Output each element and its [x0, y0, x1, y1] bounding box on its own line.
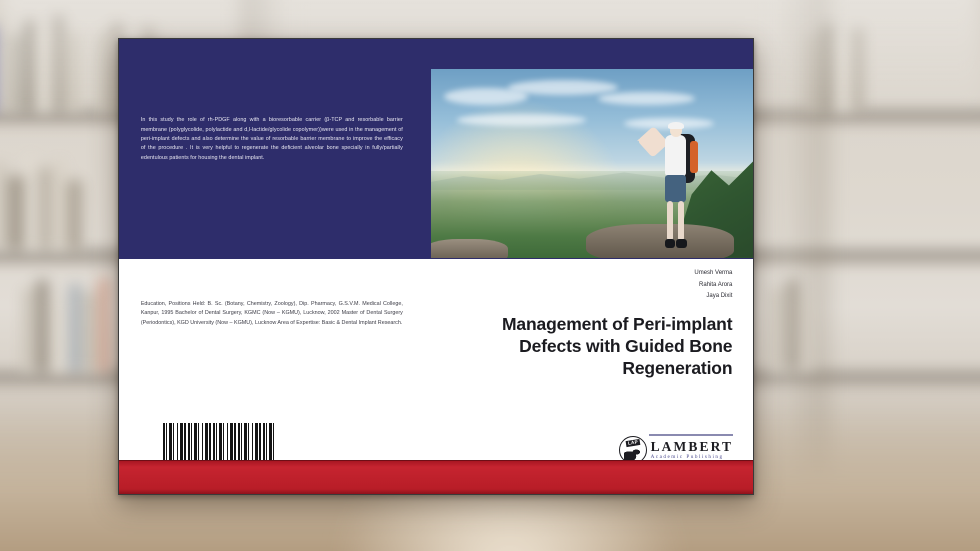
author-list: Umesh Verma Rahita Arora Jaya Dixit — [507, 268, 732, 303]
author-name: Rahita Arora — [507, 280, 732, 292]
book-title: Management of Peri-implant Defects with … — [475, 313, 733, 379]
logo-rule — [649, 434, 733, 436]
front-cover: Umesh Verma Rahita Arora Jaya Dixit Mana… — [431, 39, 753, 494]
cloud — [457, 114, 586, 125]
leg — [667, 201, 674, 242]
lap-mark-label: LAP — [625, 439, 640, 447]
cover-photograph — [431, 69, 753, 258]
author-name: Jaya Dixit — [507, 291, 732, 303]
red-footer-band — [119, 460, 753, 494]
swan-glyph — [624, 448, 641, 460]
publisher-name: LAMBERT — [651, 440, 733, 454]
hand — [637, 139, 640, 141]
cap — [668, 122, 684, 129]
book-cover: In this study the role of rh-PDGF along … — [118, 38, 754, 495]
cloud — [598, 92, 695, 105]
screenshot-stage: In this study the role of rh-PDGF along … — [0, 0, 980, 551]
author-biography-text: Education, Positions Held: B. Sc. (Botan… — [141, 300, 403, 328]
shoe — [665, 239, 675, 249]
shoe — [676, 239, 686, 249]
author-name: Umesh Verma — [507, 268, 732, 280]
torso — [665, 135, 686, 176]
back-cover: In this study the role of rh-PDGF along … — [119, 39, 431, 494]
publisher-name-block: LAMBERT Academic Publishing — [651, 440, 733, 460]
abstract-text: In this study the role of rh-PDGF along … — [141, 116, 403, 162]
rock-outcrop — [431, 239, 508, 258]
backpack-strap — [690, 141, 698, 174]
leg — [678, 201, 685, 242]
shorts — [665, 175, 685, 202]
hiker-figure — [645, 116, 706, 252]
